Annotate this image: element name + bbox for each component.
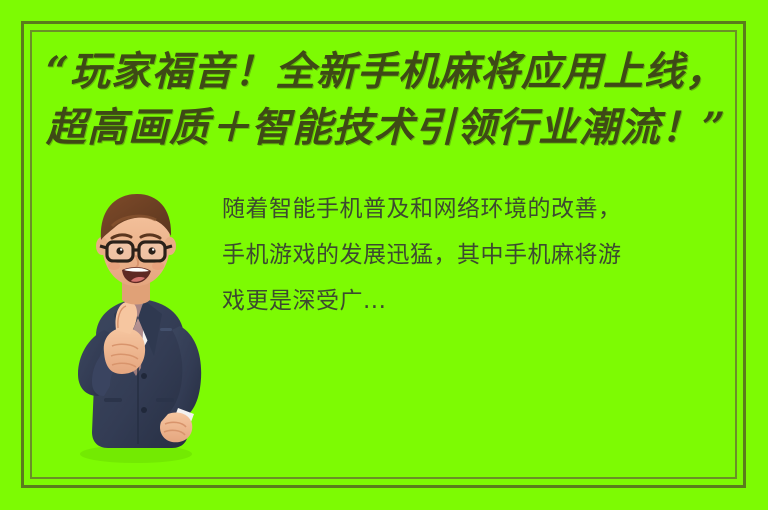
headline: “玩家福音！全新手机麻将应用上线， 超高画质＋智能技术引领行业潮流！”	[46, 44, 726, 156]
body-line-3: 戏更是深受广...	[222, 278, 722, 324]
headline-line-1: “玩家福音！全新手机麻将应用上线，	[46, 44, 726, 100]
body-line-1: 随着智能手机普及和网络环境的改善，	[222, 186, 722, 232]
body-line-2: 手机游戏的发展迅猛，其中手机麻将游	[222, 232, 722, 278]
body-paragraph: 随着智能手机普及和网络环境的改善， 手机游戏的发展迅猛，其中手机麻将游 戏更是深…	[222, 186, 722, 324]
businessman-thumbs-up-illustration	[52, 186, 212, 476]
headline-line-2: 超高画质＋智能技术引领行业潮流！”	[46, 100, 726, 156]
promo-card: “玩家福音！全新手机麻将应用上线， 超高画质＋智能技术引领行业潮流！” 随着智能…	[0, 0, 768, 510]
